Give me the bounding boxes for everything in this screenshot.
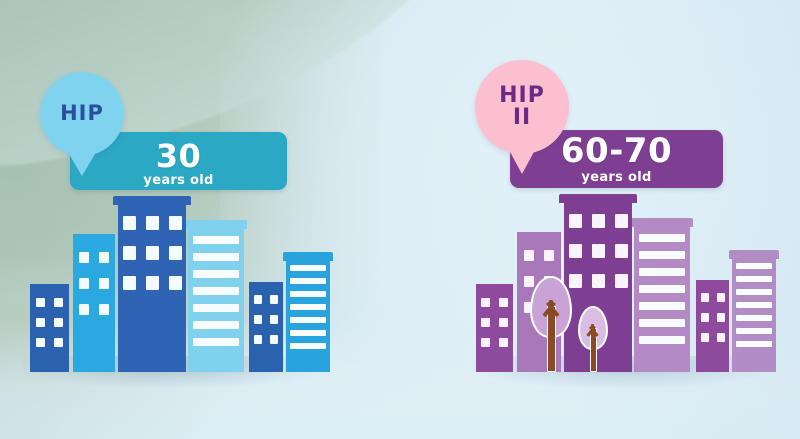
tree-large-icon [530, 276, 572, 372]
window-grid [118, 216, 186, 290]
infographic-canvas: 30 years old HIP 60-70 years old HIP II [0, 0, 800, 439]
tree-trunk [547, 306, 556, 372]
tree-branch [549, 300, 553, 314]
tree-small-icon [578, 306, 608, 372]
building-tower-center [118, 196, 186, 372]
window-grid [564, 214, 632, 288]
bubble-label-line2: II [513, 107, 531, 129]
tree-branch [591, 324, 594, 334]
bubble-tail-icon [509, 150, 535, 174]
age-unit: years old [510, 171, 723, 184]
speech-bubble-hip-ii: HIP II [475, 60, 569, 154]
bubble-label: HIP [499, 85, 545, 107]
